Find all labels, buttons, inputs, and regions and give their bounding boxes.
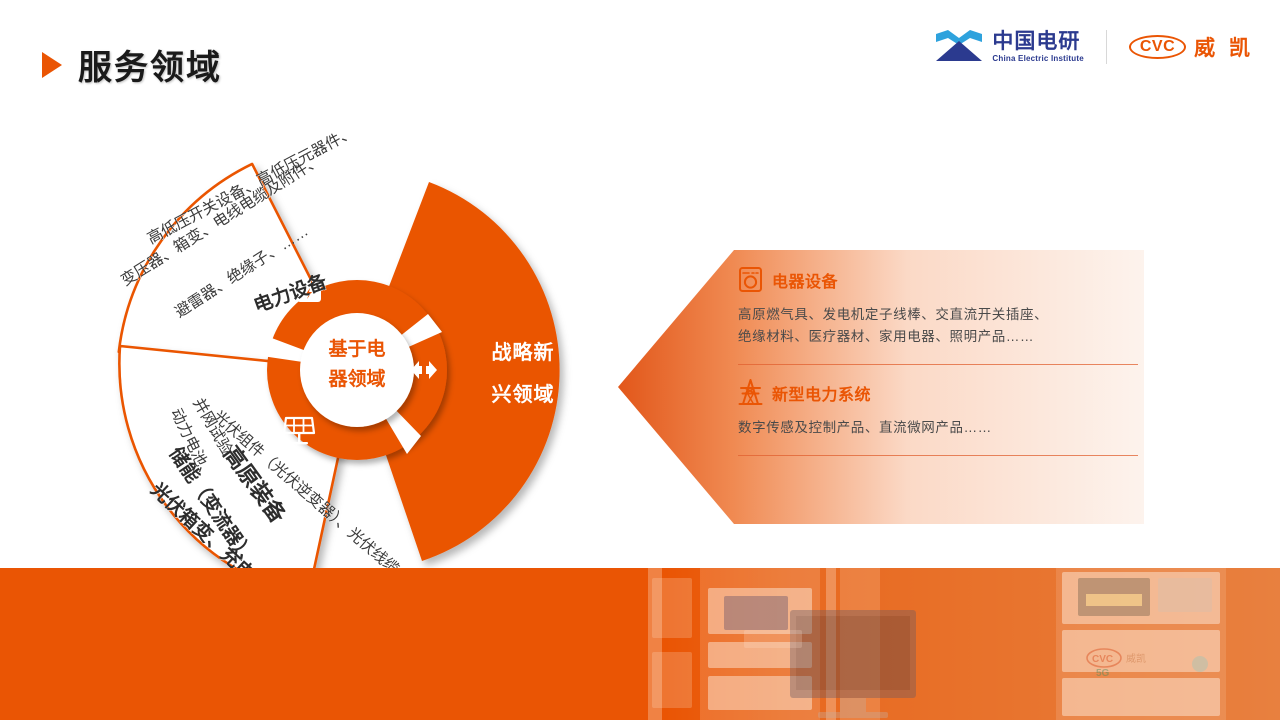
donut-center-line2: 器领域 [300, 365, 414, 395]
logo-cvc: CVC 威 凯 [1129, 32, 1254, 62]
panel-section-header: 电器设备 [738, 266, 1138, 293]
washing-machine-icon [738, 266, 763, 293]
logo-cei-en: China Electric Institute [992, 55, 1083, 63]
svg-text:威凯: 威凯 [1126, 652, 1146, 665]
panel-desc-appliance-line2: 绝缘材料、医疗器材、家用电器、照明产品…… [738, 326, 1138, 348]
logo-cei-cn: 中国电研 [992, 31, 1083, 52]
panel-desc-appliance-line1: 高原燃气具、发电机定子线棒、交直流开关插座、 [738, 304, 1138, 326]
donut-center-label: 基于电 器领域 [300, 335, 414, 395]
sector-strategic-label: 战略新 兴领域 [458, 332, 588, 416]
panel-desc-appliance: 高原燃气具、发电机定子线棒、交直流开关插座、 绝缘材料、医疗器材、家用电器、照明… [738, 304, 1138, 348]
panel-divider-1 [738, 364, 1138, 365]
svg-text:CVC: CVC [1092, 654, 1113, 665]
logo-group: 中国电研 China Electric Institute CVC 威 凯 [934, 28, 1254, 66]
panel-section-header: 新型电力系统 [738, 379, 1138, 406]
panel-section-appliance[interactable]: 电器设备 高原燃气具、发电机定子线棒、交直流开关插座、 绝缘材料、医疗器材、家用… [738, 266, 1138, 348]
lab-photo-illustration: CVC 威凯 5G [0, 568, 1280, 720]
panel-body: 电器设备 高原燃气具、发电机定子线棒、交直流开关插座、 绝缘材料、医疗器材、家用… [738, 266, 1138, 456]
panel-desc-power-system-line1: 数字传感及控制产品、直流微网产品…… [738, 417, 1138, 439]
panel-divider-2 [738, 455, 1138, 456]
solar-panel-icon [281, 414, 317, 453]
svg-text:5G: 5G [1096, 668, 1110, 679]
detail-panel: 电器设备 高原燃气具、发电机定子线棒、交直流开关插座、 绝缘材料、医疗器材、家用… [616, 248, 1146, 526]
donut-center-line1: 基于电 [300, 335, 414, 365]
triangle-right-icon [42, 52, 62, 78]
mountain-book-icon [934, 28, 984, 66]
lab-photo-band: CVC 威凯 5G [0, 568, 1280, 720]
panel-title-power-system: 新型电力系统 [772, 381, 871, 405]
sector-strategic-label-line1: 战略新 [458, 332, 588, 374]
title-group: 服务领域 [42, 40, 222, 89]
sector-strategic-label-line2: 兴领域 [458, 374, 588, 416]
logo-china-electric-institute: 中国电研 China Electric Institute [934, 28, 1083, 66]
service-domain-donut-diagram: 高低压开关设备、高低压元器件、 变压器、箱变、电线电缆及附件、 避雷器、绝缘子、… [80, 120, 660, 620]
logo-cvc-badge: CVC [1129, 35, 1186, 59]
slide-header: 服务领域 中国电研 China Electric Institute CVC 威… [0, 0, 1280, 110]
logo-divider [1106, 30, 1107, 64]
power-pylon-icon [738, 379, 763, 406]
panel-title-appliance: 电器设备 [772, 268, 838, 292]
page-title: 服务领域 [78, 40, 222, 89]
panel-desc-power-system: 数字传感及控制产品、直流微网产品…… [738, 417, 1138, 439]
panel-section-power-system[interactable]: 新型电力系统 数字传感及控制产品、直流微网产品…… [738, 379, 1138, 439]
logo-cvc-cn: 威 凯 [1194, 32, 1254, 62]
